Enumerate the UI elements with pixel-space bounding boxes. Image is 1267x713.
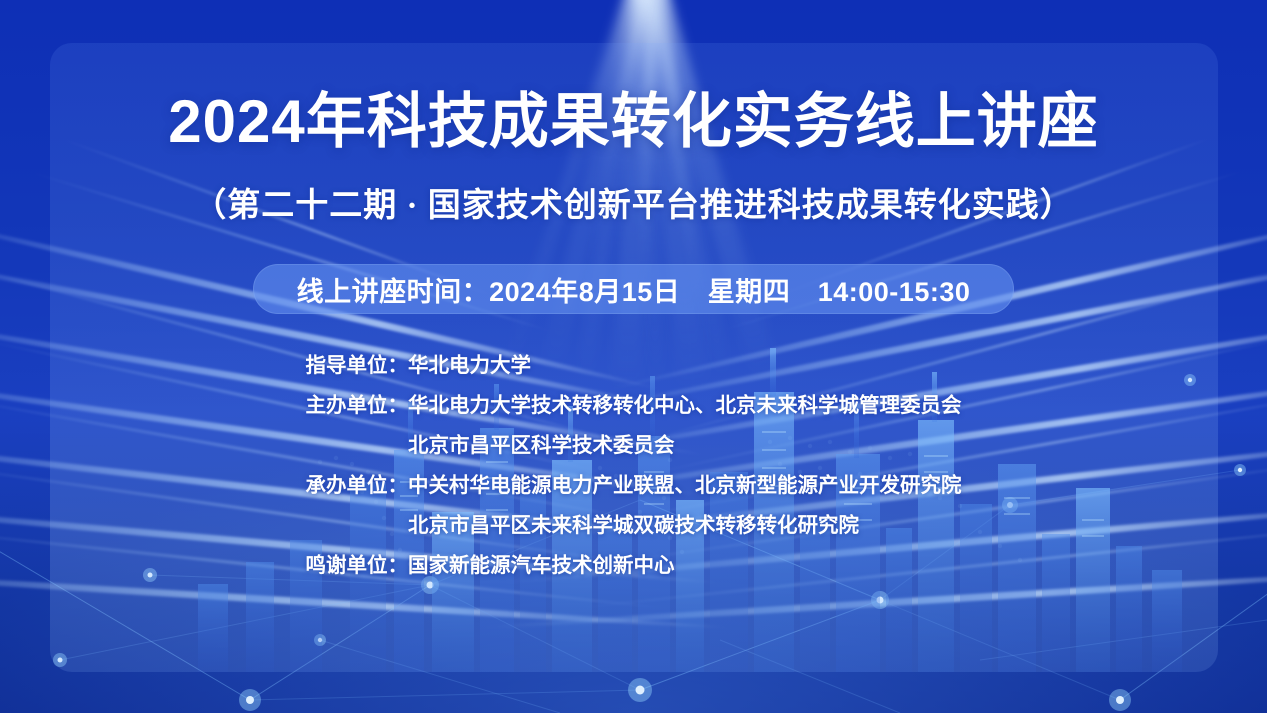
org-value: 中关村华电能源电力产业联盟、北京新型能源产业开发研究院	[408, 468, 962, 498]
page-title: 2024年科技成果转化实务线上讲座	[168, 92, 1098, 152]
lecture-time-text: 线上讲座时间：2024年8月15日 星期四 14:00-15:30	[297, 270, 971, 309]
org-value: 华北电力大学技术转移转化中心、北京未来科学城管理委员会	[408, 388, 962, 418]
org-label: 主办单位：	[306, 388, 409, 418]
org-value: 华北电力大学	[408, 348, 962, 378]
org-label: 鸣谢单位：	[306, 548, 409, 578]
poster-canvas: 2024年科技成果转化实务线上讲座 （第二十二期 · 国家技术创新平台推进科技成…	[0, 0, 1267, 713]
poster-content: 2024年科技成果转化实务线上讲座 （第二十二期 · 国家技术创新平台推进科技成…	[0, 0, 1267, 713]
lecture-time-banner: 线上讲座时间：2024年8月15日 星期四 14:00-15:30	[253, 264, 1015, 314]
org-value: 北京市昌平区科学技术委员会	[408, 428, 962, 458]
org-label: 指导单位：	[306, 348, 409, 378]
org-value: 国家新能源汽车技术创新中心	[408, 548, 962, 578]
org-value: 北京市昌平区未来科学城双碳技术转移转化研究院	[408, 508, 962, 538]
org-label: 承办单位：	[306, 468, 409, 498]
page-subtitle: （第二十二期 · 国家技术创新平台推进科技成果转化实践）	[193, 178, 1074, 226]
organization-list: 指导单位： 华北电力大学 主办单位： 华北电力大学技术转移转化中心、北京未来科学…	[306, 348, 962, 578]
